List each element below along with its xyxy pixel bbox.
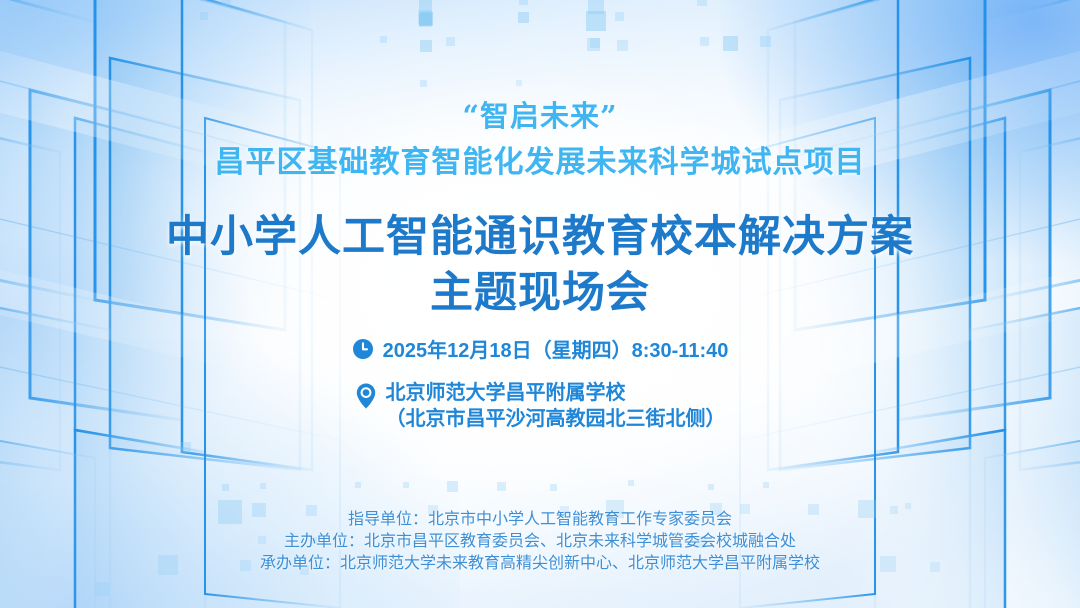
poster-canvas: “智启未来” 昌平区基础教育智能化发展未来科学城试点项目 中小学人工智能通识教育…: [0, 0, 1080, 608]
map-pin-icon: [355, 382, 377, 415]
event-datetime: 2025年12月18日（星期四）8:30-11:40: [0, 338, 1080, 365]
event-venue-line-1: 北京师范大学昌平附属学校: [386, 380, 726, 406]
event-venue: 北京师范大学昌平附属学校 （北京市昌平沙河高教园北三街北侧）: [0, 380, 1080, 432]
clock-icon: [352, 338, 374, 365]
event-venue-line-2: （北京市昌平沙河高教园北三街北侧）: [386, 406, 726, 432]
footer-guiding-organization: 指导单位：北京市中小学人工智能教育工作专家委员会: [0, 509, 1080, 531]
event-venue-lines: 北京师范大学昌平附属学校 （北京市昌平沙河高教园北三街北侧）: [386, 380, 726, 432]
page-title-line-1: 中小学人工智能通识教育校本解决方案: [0, 202, 1080, 264]
page-title-line-2: 主题现场会: [0, 258, 1080, 320]
footer-organizing-organization: 承办单位：北京师范大学未来教育高精尖创新中心、北京师范大学昌平附属学校: [0, 553, 1080, 575]
footer-hosting-organization: 主办单位：北京市昌平区教育委员会、北京未来科学城管委会校城融合处: [0, 531, 1080, 553]
event-datetime-text: 2025年12月18日（星期四）8:30-11:40: [383, 338, 729, 364]
poster-subtitle: 昌平区基础教育智能化发展未来科学城试点项目: [0, 137, 1080, 181]
poster-kicker: “智启未来”: [0, 93, 1080, 135]
